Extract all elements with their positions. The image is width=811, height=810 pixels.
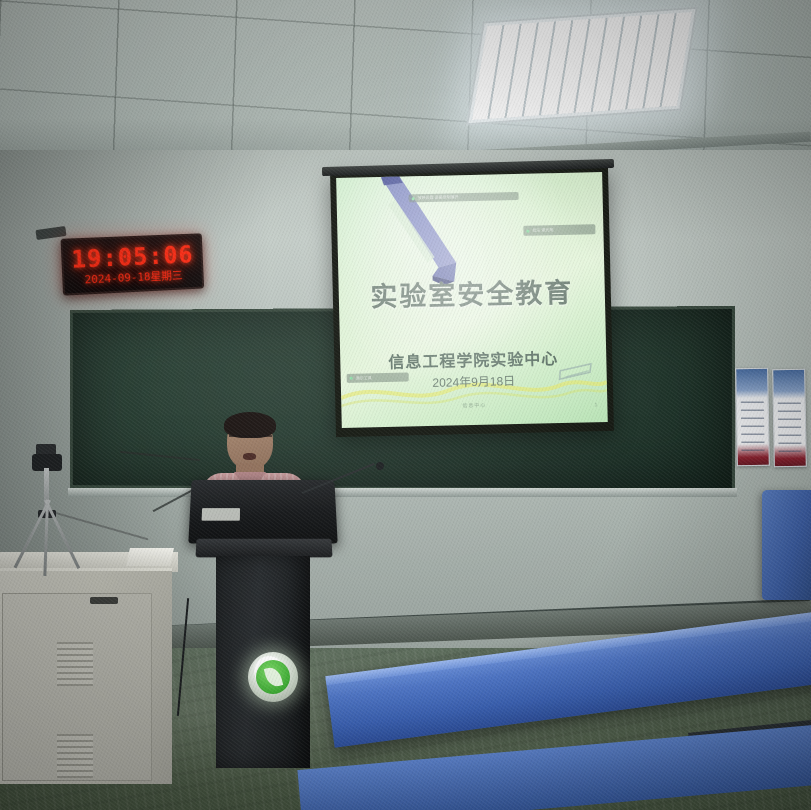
screen-frame: 实验室安全教育 信息工程学院实验中心 2024年9月18日 信息中心 1 放映设… bbox=[330, 167, 614, 437]
slide-toolbar-right[interactable]: 批注 激光笔 bbox=[523, 224, 595, 236]
podium-desktop bbox=[195, 539, 332, 558]
slide-toolbar-top-label: 放映设置 屏幕录制展开 bbox=[418, 194, 459, 201]
green-leaf-emblem bbox=[248, 652, 298, 702]
led-clock-date: 2024-09-18星期三 bbox=[84, 270, 182, 286]
status-dot-icon bbox=[526, 229, 529, 232]
cabinet-handle[interactable] bbox=[90, 597, 118, 604]
camera-tripod bbox=[10, 452, 84, 576]
projection-screen: 实验室安全教育 信息工程学院实验中心 2024年9月18日 信息中心 1 放映设… bbox=[330, 167, 614, 437]
slide-toolbar-left[interactable]: 演示工具 bbox=[347, 372, 409, 382]
slide-title: 实验室安全教育 bbox=[338, 270, 605, 315]
blackboard-chalk-tray bbox=[68, 488, 737, 497]
leaf-icon bbox=[263, 665, 282, 688]
wall-poster-right bbox=[772, 369, 807, 468]
emblem-inner-disc bbox=[256, 660, 290, 694]
led-clock-display: 19:05:06 2024-09-18星期三 bbox=[61, 233, 205, 295]
podium-body bbox=[216, 556, 310, 768]
equipment-cabinet bbox=[0, 568, 172, 784]
slide-page-number: 1 bbox=[595, 402, 598, 408]
poster-text-lines bbox=[741, 401, 765, 451]
presentation-slide: 实验室安全教育 信息工程学院实验中心 2024年9月18日 信息中心 1 放映设… bbox=[336, 172, 608, 428]
wall-poster-left bbox=[735, 368, 770, 467]
slide-toolbar-left-label: 演示工具 bbox=[356, 375, 372, 381]
light-louver-grid bbox=[472, 12, 692, 120]
lectern-podium bbox=[190, 478, 336, 768]
cabinet-vent-upper bbox=[57, 642, 93, 686]
status-dot-icon bbox=[412, 197, 415, 200]
presenter-mouth bbox=[243, 453, 256, 460]
podium-monitor-label bbox=[202, 508, 240, 521]
tripod-leg bbox=[44, 499, 80, 569]
classroom-scene: 19:05:06 2024-09-18星期三 bbox=[0, 0, 811, 810]
microphone-head-icon bbox=[376, 462, 384, 470]
cabinet-door[interactable] bbox=[2, 593, 152, 781]
poster-text-lines bbox=[778, 402, 802, 452]
slide-toolbar-top[interactable]: 放映设置 屏幕录制展开 bbox=[409, 192, 519, 202]
ceiling-light-fixture bbox=[466, 7, 698, 126]
presenter-glasses bbox=[229, 435, 272, 442]
podium-monitor[interactable] bbox=[188, 480, 337, 543]
blue-wall-panel bbox=[762, 490, 811, 600]
led-clock-time: 19:05:06 bbox=[71, 243, 194, 272]
status-dot-icon bbox=[350, 377, 353, 380]
white-object-on-cabinet bbox=[126, 548, 174, 566]
slide-toolbar-right-label: 批注 激光笔 bbox=[532, 227, 553, 233]
cabinet-vent-lower bbox=[57, 734, 93, 778]
